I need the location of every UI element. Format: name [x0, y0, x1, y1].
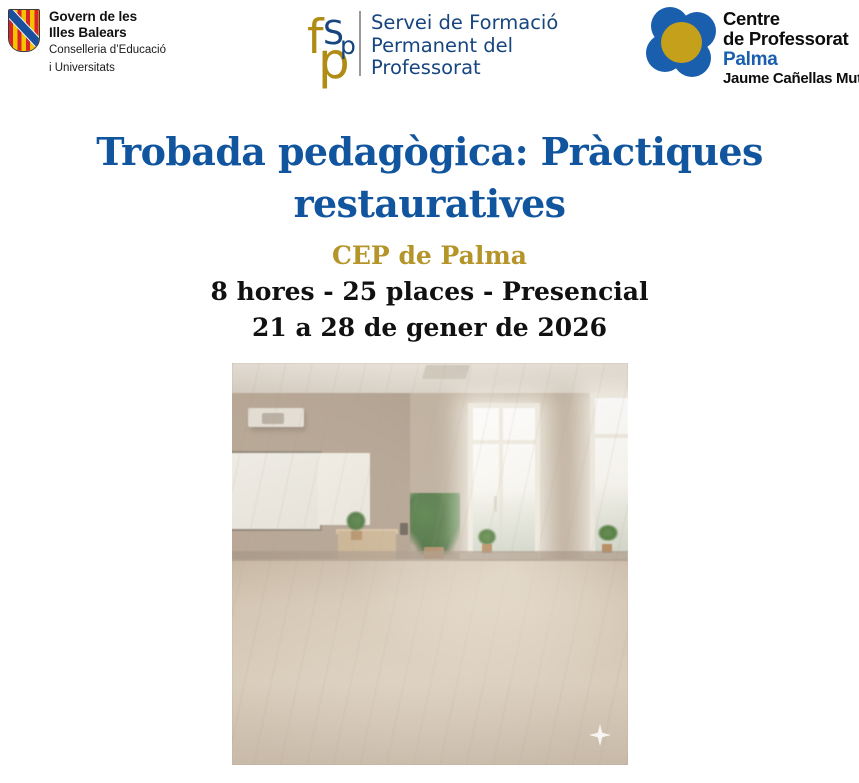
fsp-monogram-icon: f p S p [307, 8, 355, 82]
fsp-letter-p-blue: p [340, 33, 356, 58]
govern-title-line1: Govern de les [49, 9, 166, 25]
cep-line2: de Professorat [723, 29, 859, 49]
fsp-line3: Professorat [371, 57, 558, 80]
cep-line3: Palma [723, 49, 859, 70]
fsp-line1: Servei de Formació [371, 12, 558, 35]
page-title-line2: restauratives [0, 178, 859, 230]
govern-logo-text: Govern de les Illes Balears Conselleria … [49, 9, 166, 75]
cep-palma-logo: Centre de Professorat Palma Jaume Cañell… [645, 6, 859, 87]
govern-title-line2: Illes Balears [49, 25, 166, 41]
course-dates: 21 a 28 de gener de 2026 [0, 311, 859, 344]
cep-pinwheel-icon [645, 6, 717, 78]
cep-logo-text: Centre de Professorat Palma Jaume Cañell… [723, 6, 859, 87]
fsp-logo-text: Servei de Formació Permanent del Profess… [371, 8, 558, 80]
poster-title-block: Trobada pedagògica: Pràctiques restaurat… [0, 126, 859, 344]
balearic-shield-icon [8, 9, 40, 52]
fsp-divider [359, 11, 361, 76]
ai-sparkle-icon [588, 723, 612, 747]
cep-line4: Jaume Cañellas Mut [723, 70, 859, 87]
classroom-photo [232, 363, 628, 765]
course-details: 8 hores - 25 places - Presencial [0, 275, 859, 308]
classroom-photo-illustration [232, 363, 628, 765]
venue-label: CEP de Palma [0, 239, 859, 272]
fsp-logo: f p S p Servei de Formació Permanent del… [307, 8, 558, 82]
govern-subtitle-line2: i Universitats [49, 61, 166, 76]
page-title-line1: Trobada pedagògica: Pràctiques [0, 126, 859, 178]
cep-line1: Centre [723, 9, 859, 29]
govern-illes-balears-logo: Govern de les Illes Balears Conselleria … [8, 9, 166, 75]
logo-bar: Govern de les Illes Balears Conselleria … [0, 0, 859, 100]
fsp-line2: Permanent del [371, 35, 558, 58]
govern-subtitle-line1: Conselleria d’Educació [49, 43, 166, 58]
